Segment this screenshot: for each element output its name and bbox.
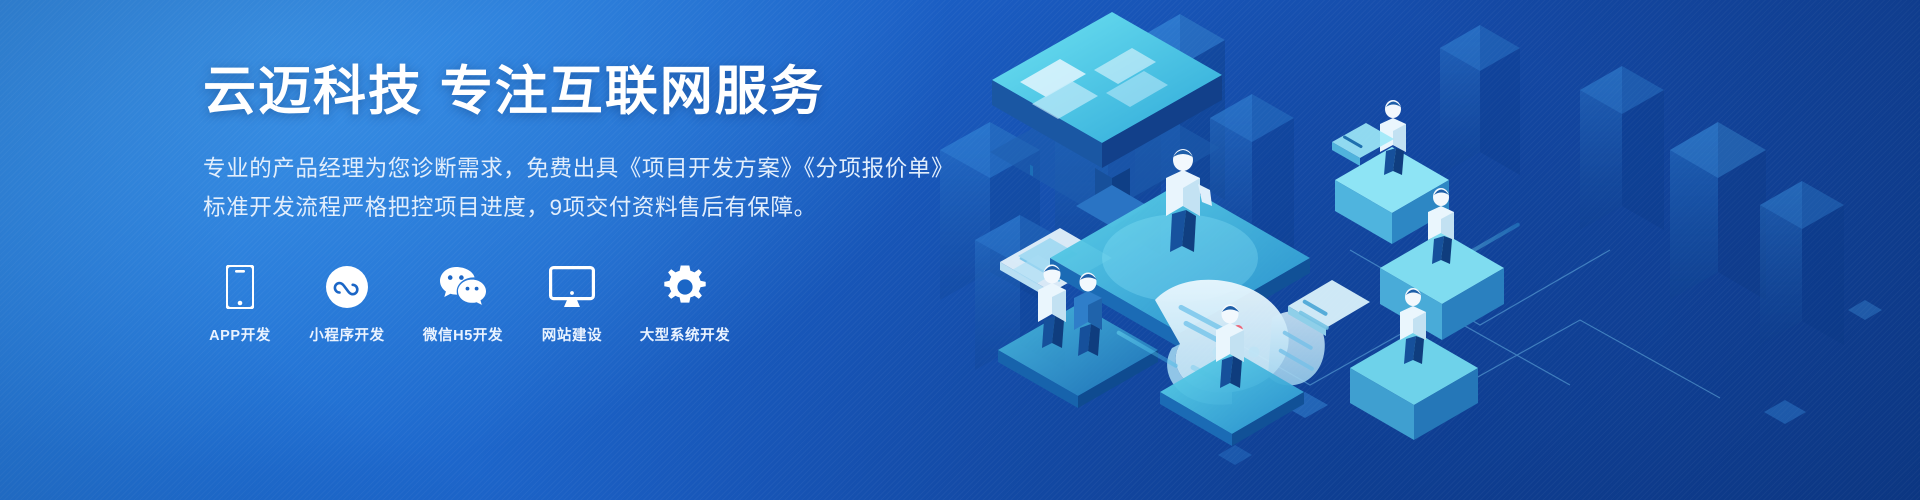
mobile-phone-icon <box>226 264 254 310</box>
feature-label-system: 大型系统开发 <box>640 324 731 345</box>
service-feature-list: APP开发 小程序开发 <box>203 264 963 345</box>
gear-icon <box>663 264 707 310</box>
page-title: 云迈科技 专注互联网服务 <box>203 62 963 121</box>
subtitle-line-1: 专业的产品经理为您诊断需求，免费出具《项目开发方案》《分项报价单》 <box>203 151 963 187</box>
subtitle-line-2: 标准开发流程严格把控项目进度，9项交付资料售后有保障。 <box>203 190 963 226</box>
feature-item-system[interactable]: 大型系统开发 <box>635 264 735 345</box>
wechat-icon <box>438 264 488 310</box>
feature-label-website: 网站建设 <box>542 324 602 345</box>
feature-item-miniprogram[interactable]: 小程序开发 <box>303 264 391 345</box>
monitor-icon <box>549 264 595 310</box>
feature-item-website[interactable]: 网站建设 <box>535 264 609 345</box>
feature-label-wechat: 微信H5开发 <box>423 324 503 345</box>
isometric-illustration <box>880 0 1920 500</box>
banner-content: 云迈科技 专注互联网服务 专业的产品经理为您诊断需求，免费出具《项目开发方案》《… <box>203 62 963 345</box>
feature-label-miniprogram: 小程序开发 <box>309 324 385 345</box>
hero-banner: 云迈科技 专注互联网服务 专业的产品经理为您诊断需求，免费出具《项目开发方案》《… <box>0 0 1920 500</box>
mini-program-icon <box>325 264 369 310</box>
feature-item-app[interactable]: APP开发 <box>203 264 277 345</box>
feature-item-wechat[interactable]: 微信H5开发 <box>417 264 509 345</box>
feature-label-app: APP开发 <box>209 324 271 345</box>
